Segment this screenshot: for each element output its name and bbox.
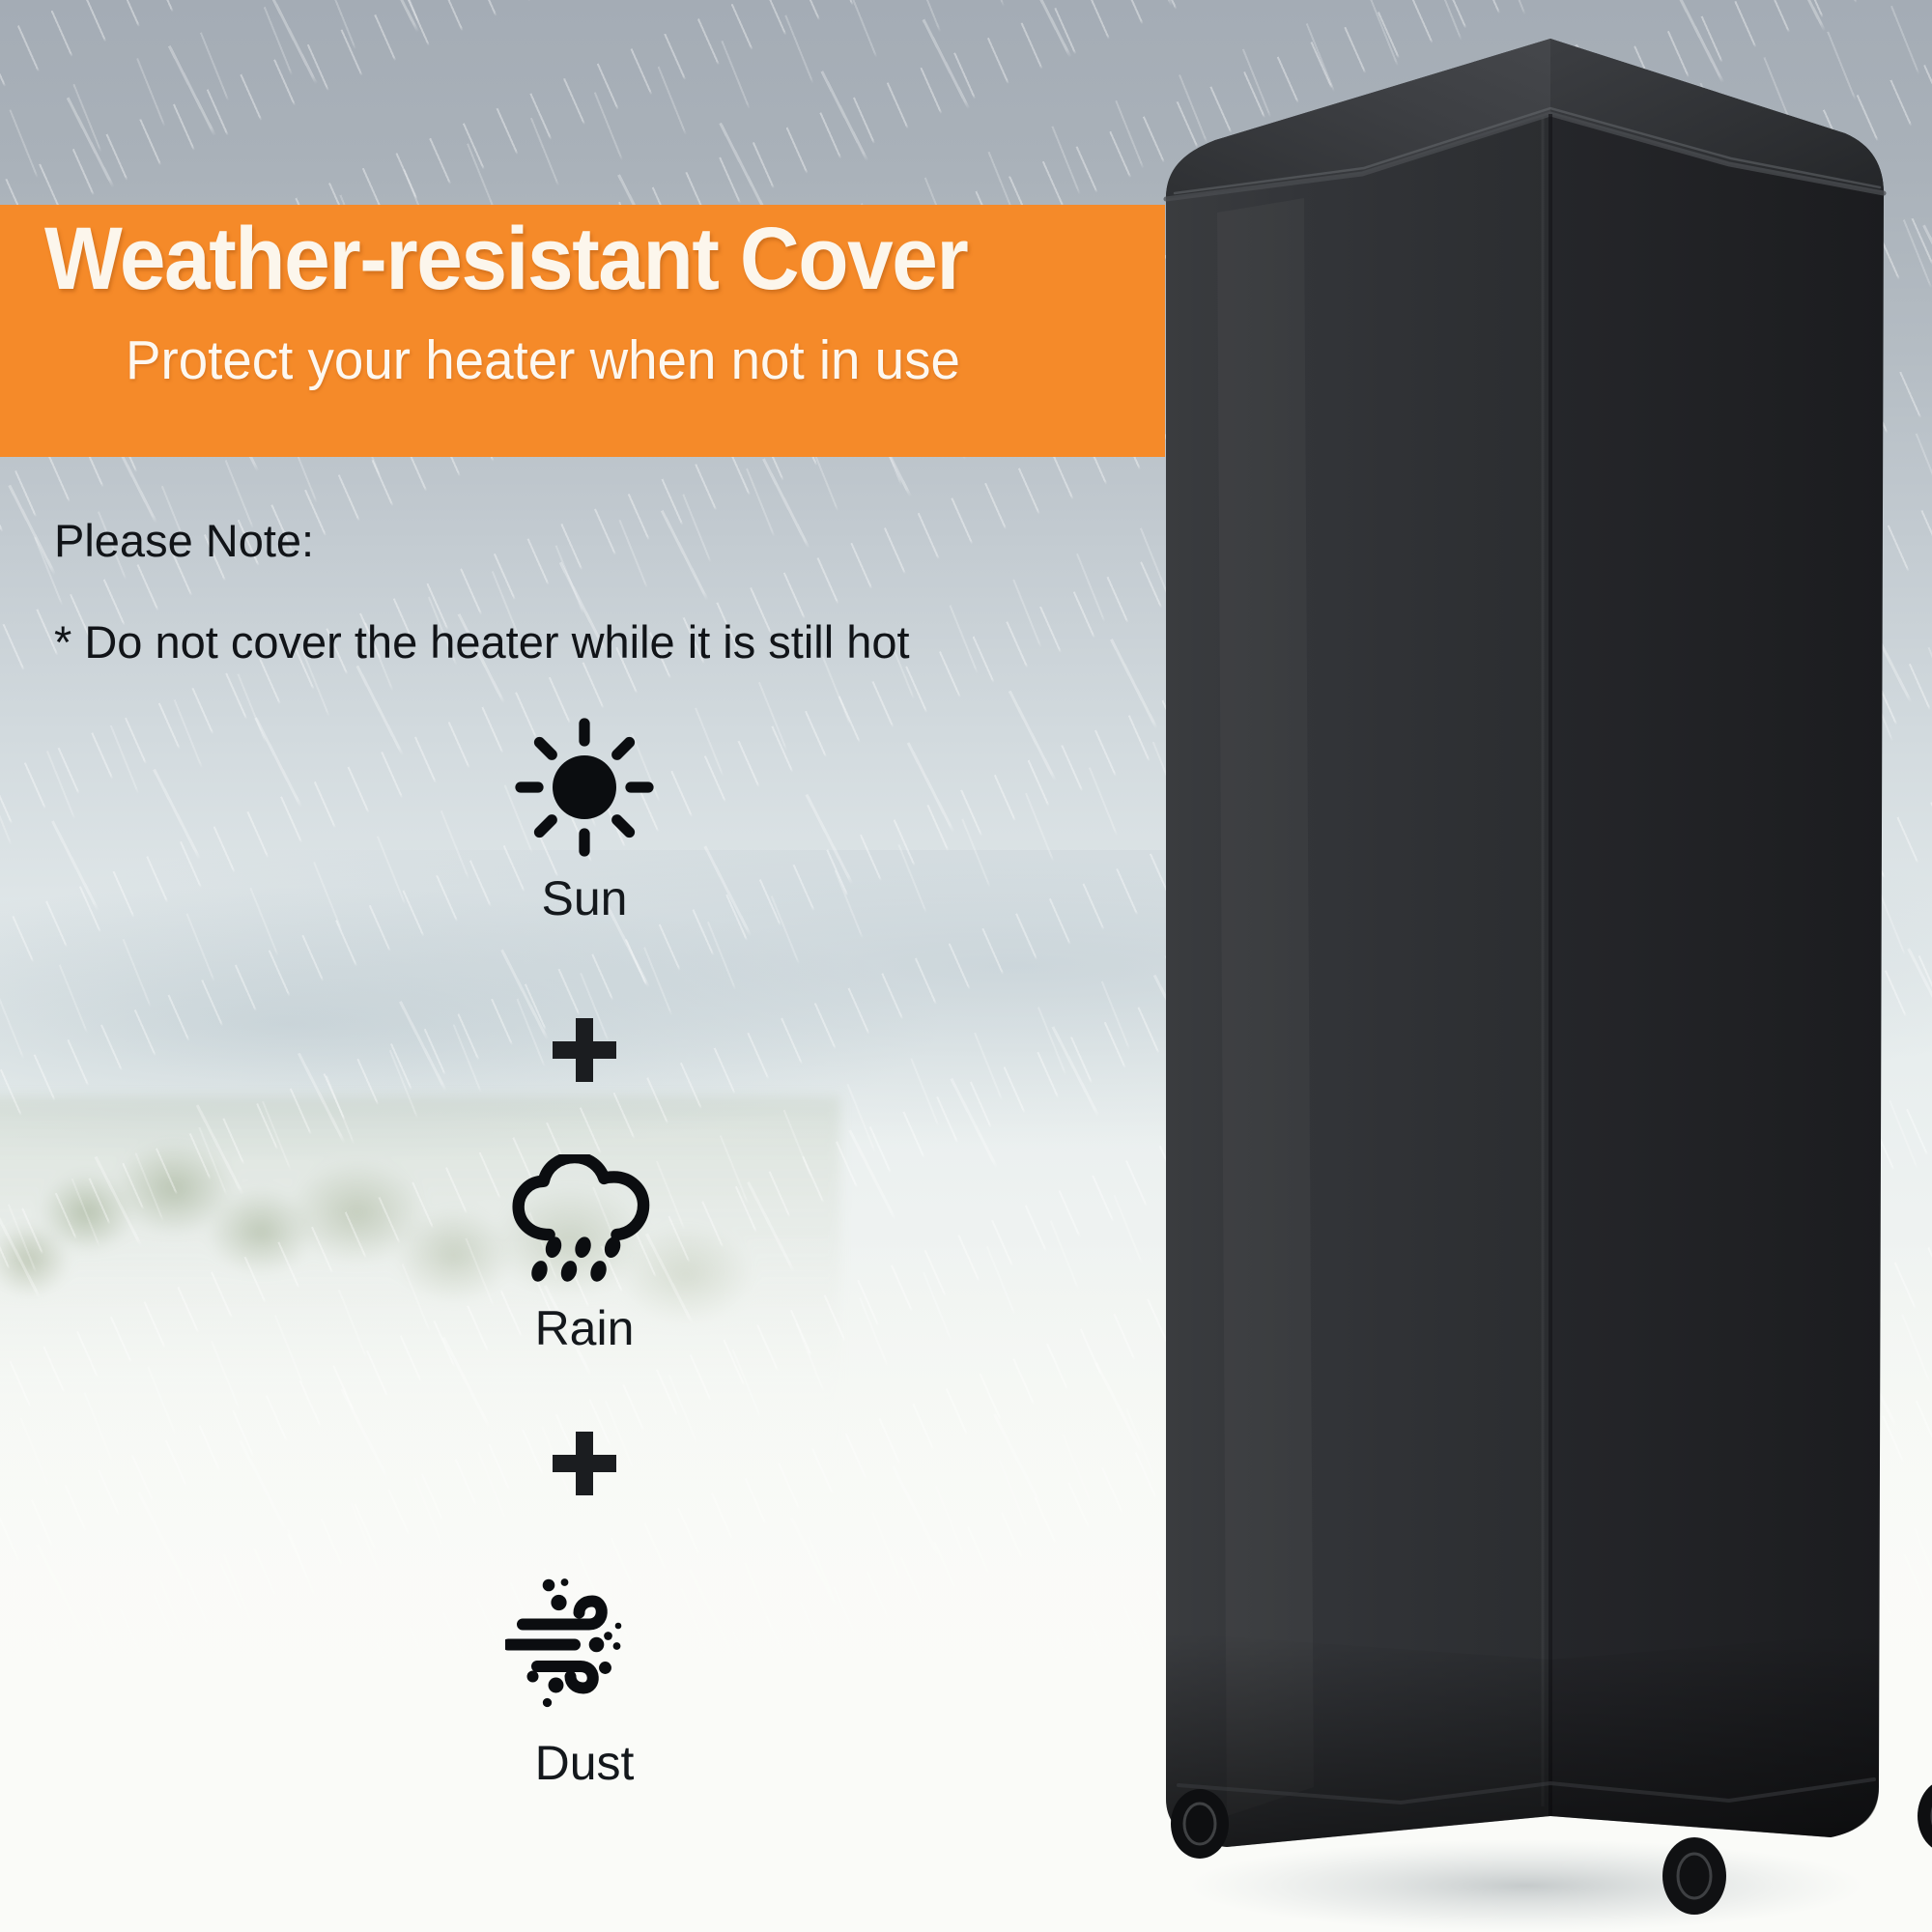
separator-plus-2	[0, 1428, 1169, 1504]
headline-banner: Weather-resistant Cover Protect your hea…	[0, 205, 1165, 457]
rain-cloud-icon	[0, 1154, 1169, 1294]
heater-cover-product	[1111, 0, 1932, 1932]
protection-item-sun: Sun	[0, 715, 1169, 923]
protection-label-rain: Rain	[0, 1304, 1169, 1352]
caster-wheel-right	[1918, 1779, 1932, 1853]
separator-plus-1	[0, 1014, 1169, 1091]
protection-label-dust: Dust	[0, 1739, 1169, 1787]
protection-item-dust: Dust	[0, 1565, 1169, 1787]
protection-label-sun: Sun	[0, 874, 1169, 923]
sun-icon	[0, 715, 1169, 865]
product-marketing-image: Weather-resistant Cover Protect your hea…	[0, 0, 1932, 1932]
cover-face-right	[1550, 39, 1884, 1837]
dust-wind-icon	[0, 1565, 1169, 1729]
caster-wheel-left	[1171, 1789, 1229, 1859]
caster-wheel-center	[1662, 1837, 1726, 1915]
protection-item-rain: Rain	[0, 1154, 1169, 1352]
product-ground-shadow	[1188, 1839, 1864, 1932]
banner-subtitle: Protect your heater when not in use	[126, 328, 960, 392]
note-bullet: * Do not cover the heater while it is st…	[54, 615, 910, 668]
banner-title: Weather-resistant Cover	[44, 213, 967, 306]
note-heading: Please Note:	[54, 514, 314, 567]
cover-bottom-shading	[1166, 1633, 1879, 1847]
cover-sheen	[1217, 198, 1314, 1816]
